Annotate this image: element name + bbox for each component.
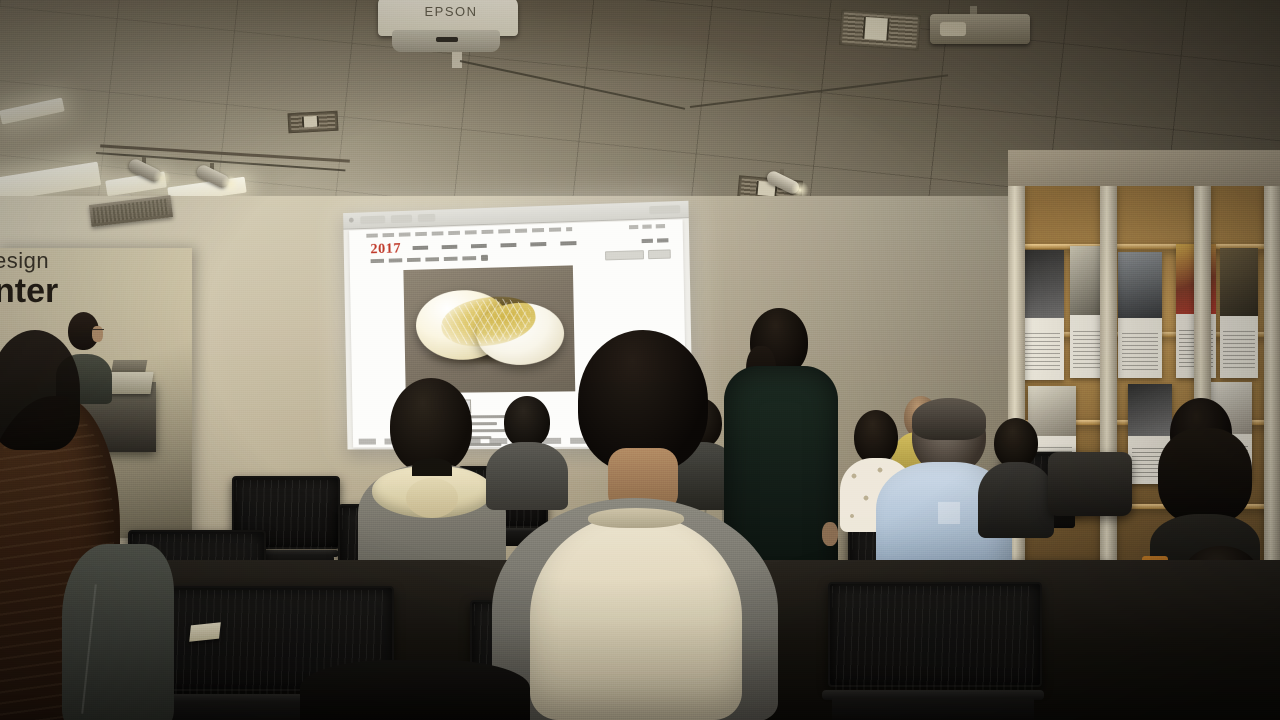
- hair-long: [1158, 428, 1252, 524]
- seminar-room-photo: EPSON esign nter: [0, 0, 1280, 720]
- site-nav-right[interactable]: [642, 238, 669, 243]
- track-spotlight: [196, 170, 236, 192]
- exhibition-poster: [1220, 248, 1258, 378]
- hair: [912, 398, 986, 440]
- secondary-projector: [930, 6, 1030, 52]
- chevron-down-icon[interactable]: [481, 255, 488, 261]
- track-spotlight: [766, 176, 806, 198]
- hand: [822, 522, 838, 546]
- silhouette-bottom: [300, 660, 530, 720]
- attendee-dark-right: [978, 418, 1054, 534]
- sign-line-design: esign: [0, 250, 114, 272]
- track-spotlight: [128, 164, 168, 186]
- sign-line-center: nter: [0, 274, 114, 308]
- handout-on-chair[interactable]: [189, 622, 221, 641]
- epson-projector: EPSON: [378, 0, 518, 58]
- hood-fold: [406, 478, 458, 518]
- collar-ribbing: [588, 508, 684, 528]
- exhibition-poster: [1118, 252, 1162, 378]
- action-button-secondary[interactable]: [648, 249, 671, 259]
- window-mullion: [1100, 186, 1117, 606]
- site-utility-nav-right[interactable]: [629, 224, 668, 229]
- design-center-sign-text: esign nter: [0, 250, 114, 308]
- epson-brand-label: EPSON: [408, 4, 494, 19]
- attendee-hoodie: [358, 378, 506, 564]
- denim-jacket: [62, 544, 174, 720]
- air-vent-grille: [288, 111, 339, 134]
- site-main-nav[interactable]: [413, 241, 591, 250]
- shirt-pocket: [938, 502, 960, 524]
- bag: [1048, 452, 1132, 516]
- site-utility-nav[interactable]: [366, 227, 572, 238]
- year-badge: 2017: [370, 241, 401, 259]
- air-vent-grille: [839, 9, 921, 50]
- sweatshirt-front: [530, 514, 742, 720]
- chair[interactable]: [828, 582, 1038, 720]
- exhibition-poster: [1020, 250, 1064, 380]
- collar: [412, 458, 452, 476]
- window-mullion: [1264, 186, 1280, 606]
- foreground-attendee-center: [492, 330, 778, 720]
- glasses-icon: [92, 329, 104, 333]
- presenter-laptop: [108, 372, 153, 394]
- action-button-primary[interactable]: [605, 250, 644, 260]
